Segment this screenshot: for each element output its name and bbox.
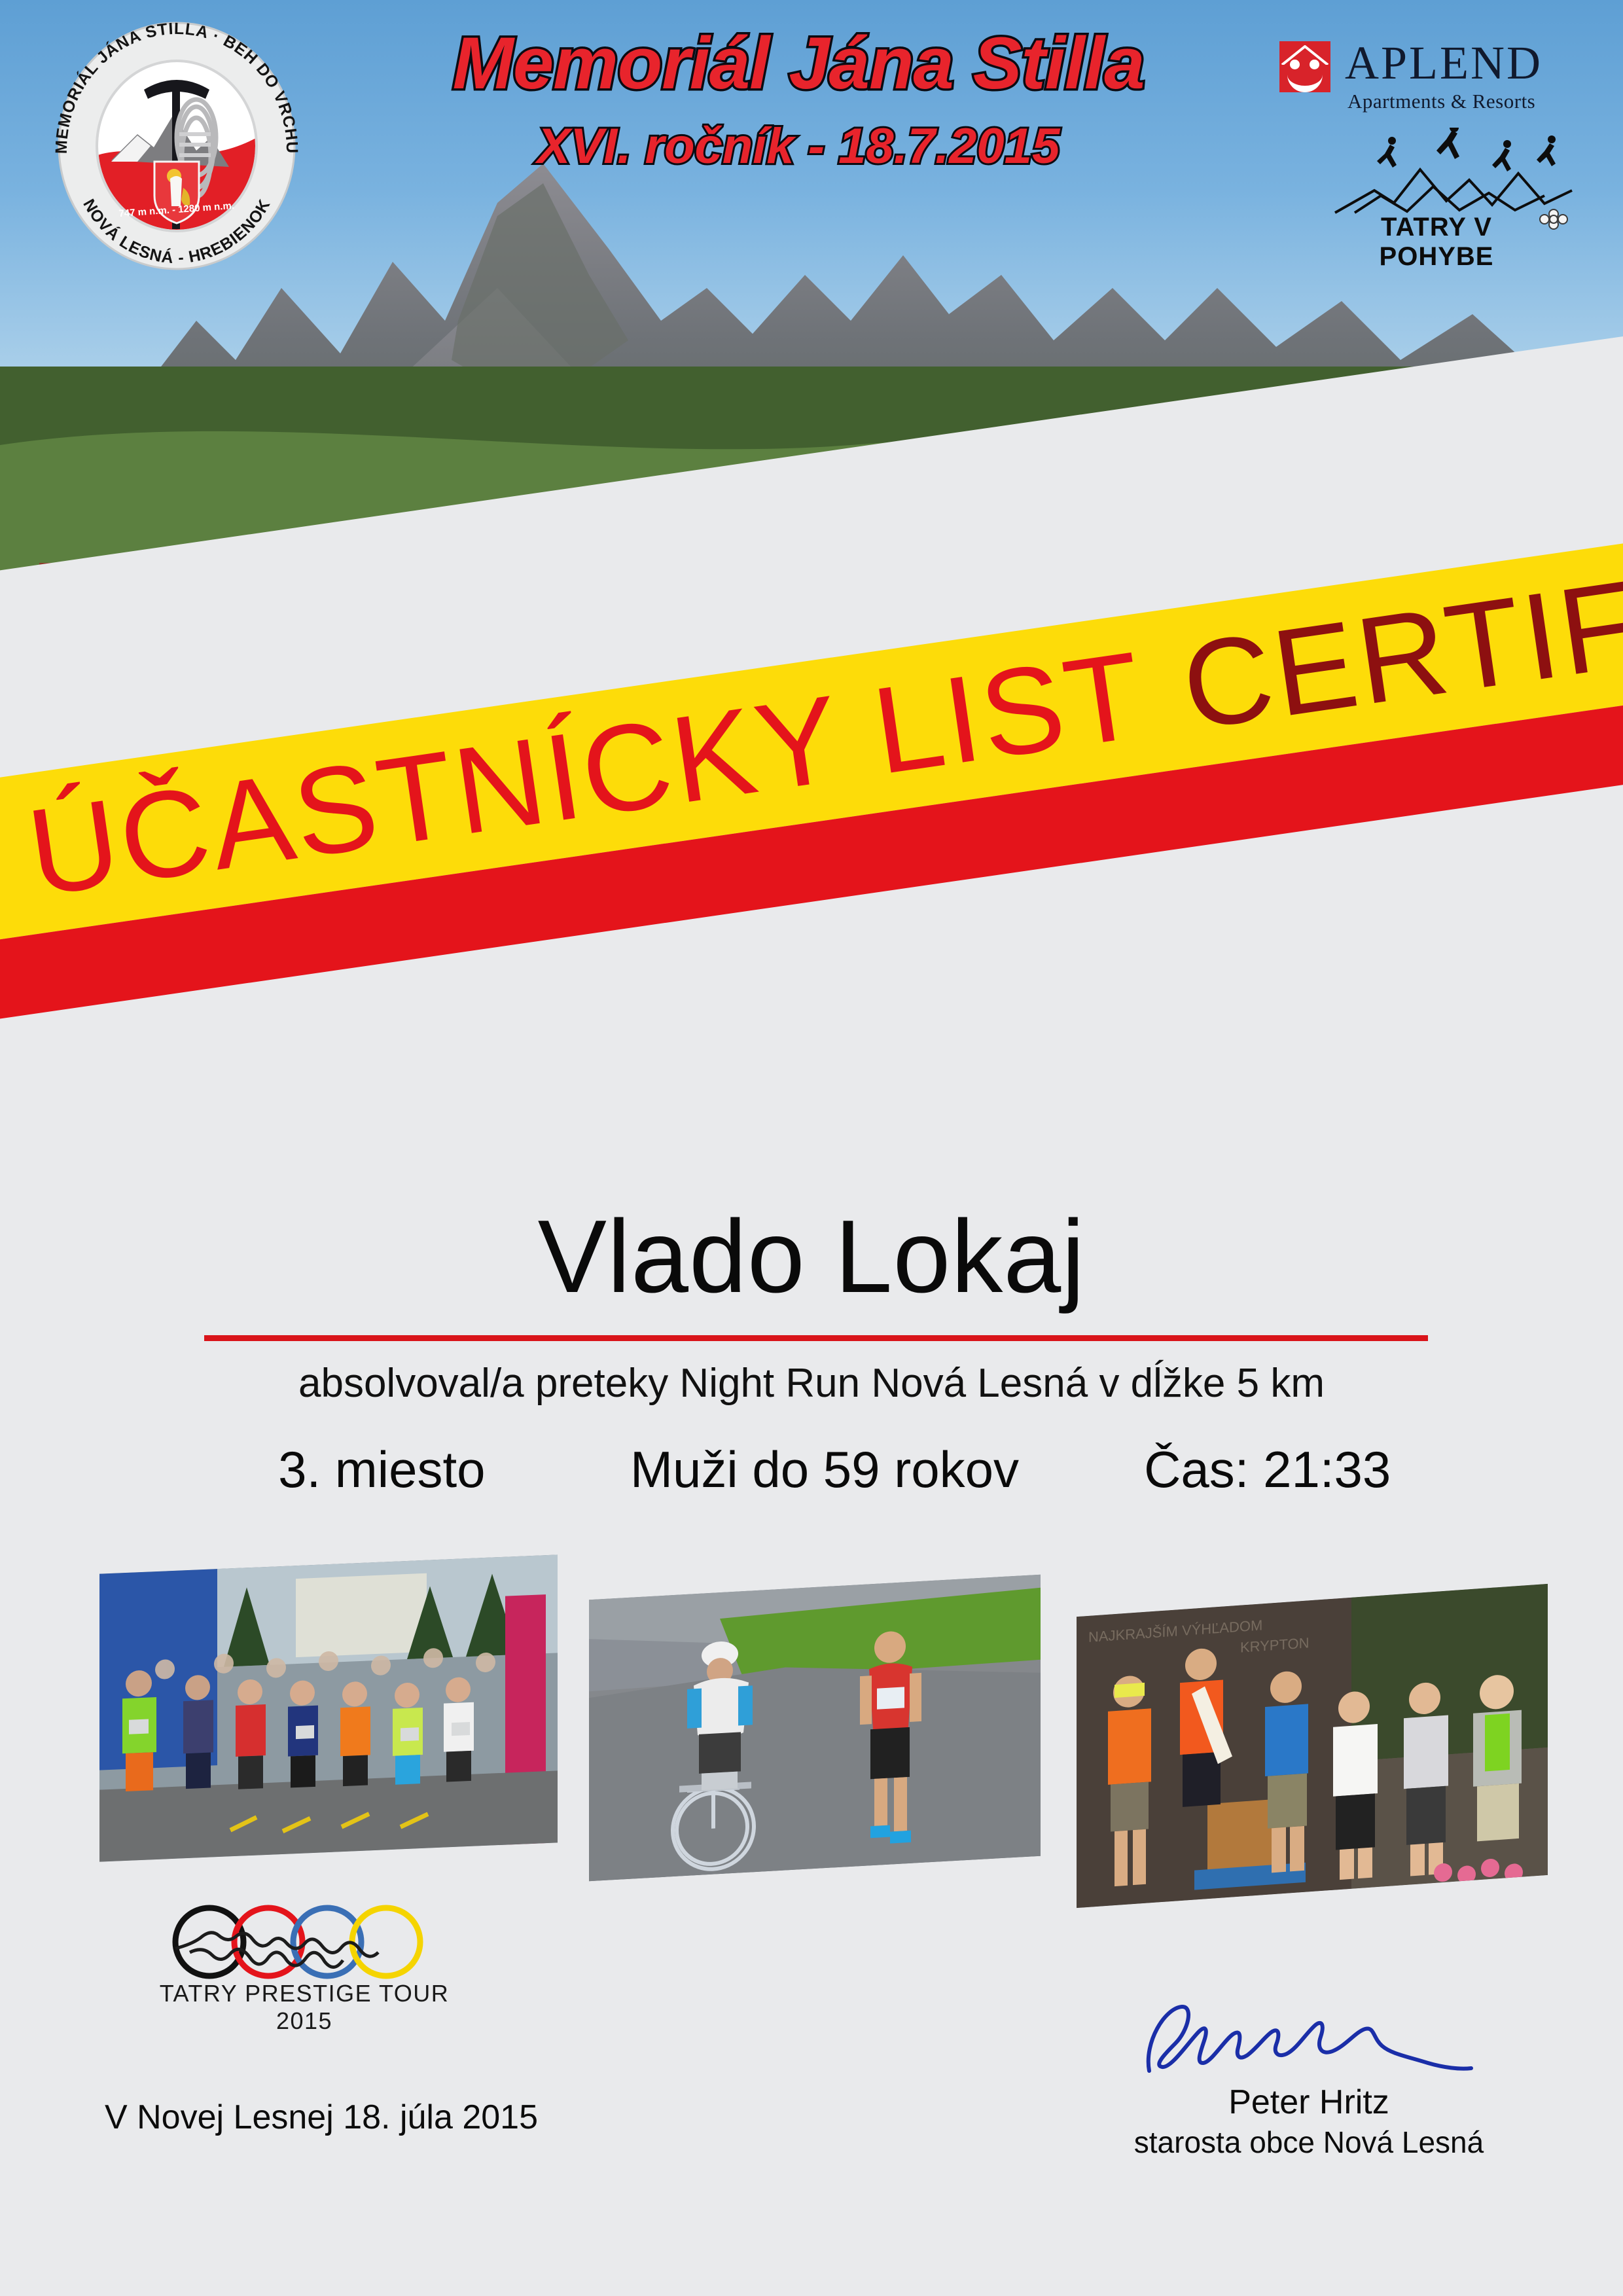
aplend-wordmark: APLEND [1345, 36, 1543, 90]
tatry-v-pohybe-label: TATRY V POHYBE [1329, 213, 1544, 272]
result-row: 3. miesto Muži do 59 rokov Čas: 21:33 [164, 1440, 1486, 1499]
aplend-house-icon [1279, 41, 1330, 92]
name-underline-rule [204, 1335, 1428, 1341]
event-subtitle: XVI. ročník - 18.7.2015 [366, 118, 1230, 175]
signer-name: Peter Hritz [1106, 2083, 1512, 2122]
signer-role: starosta obce Nová Lesná [1106, 2125, 1512, 2160]
certificate-page: MEMORIÁL JÁNA STILLA · BEH DO VRCHU NOVÁ… [0, 0, 1623, 2296]
race-description: absolvoval/a preteky Night Run Nová Lesn… [0, 1360, 1623, 1407]
result-category: Muži do 59 rokov [600, 1440, 1050, 1499]
event-emblem-logo: MEMORIÁL JÁNA STILLA · BEH DO VRCHU NOVÁ… [39, 16, 314, 272]
page-title: Memoriál Jána Stilla [366, 26, 1230, 101]
tatry-prestige-tour-label: TATRY PRESTIGE TOUR 2015 [141, 1980, 468, 2035]
photo-award-ceremony: NAJKRAJŠÍM VÝHĽADOM KRYPTON [1077, 1584, 1548, 1908]
participant-name: Vlado Lokaj [0, 1198, 1623, 1316]
photo-cyclist-and-runner [589, 1575, 1041, 1882]
result-time: Čas: 21:33 [1049, 1440, 1486, 1499]
aplend-tagline: Apartments & Resorts [1347, 90, 1535, 113]
photo-strip: NAJKRAJŠÍM VÝHĽADOM KRYPTON [0, 1551, 1623, 1905]
photo-race-start [99, 1554, 558, 1861]
tatry-prestige-tour-rings-icon [164, 1901, 445, 1986]
aplend-sponsor-logo: APLEND Apartments & Resorts [1279, 36, 1587, 128]
signature-block: Peter Hritz starosta obce Nová Lesná [1106, 2003, 1512, 2160]
handwritten-signature [1126, 2003, 1492, 2081]
issue-place-date: V Novej Lesnej 18. júla 2015 [105, 2098, 538, 2137]
result-place: 3. miesto [164, 1440, 600, 1499]
